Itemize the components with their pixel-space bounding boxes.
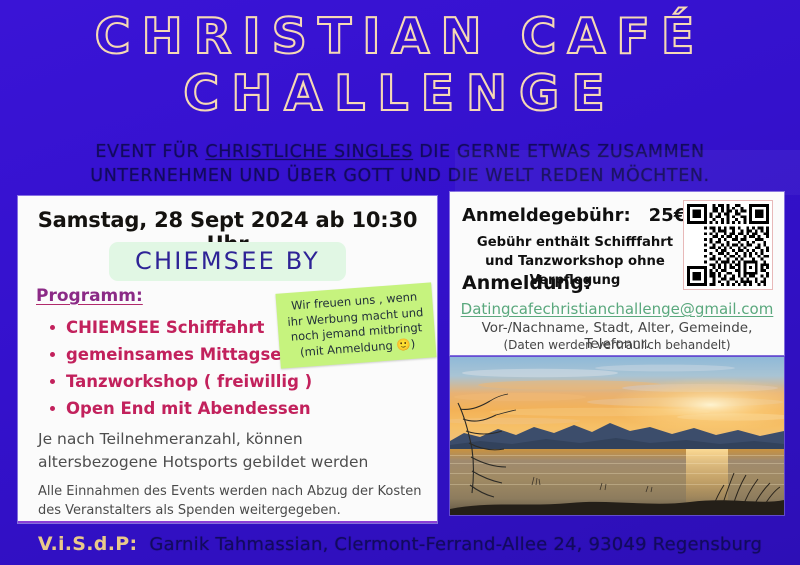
event-location-badge: CHIEMSEE BY (109, 242, 346, 281)
group-note-line-1: Je nach Teilnehmeranzahl, können (38, 428, 368, 451)
subtitle-line-1: EVENT FÜR CHRISTLICHE SINGLES DIE GERNE … (0, 140, 800, 164)
fee-amount: 25€ (649, 205, 687, 226)
visdp-label: V.i.S.d.P: (38, 533, 137, 555)
list-item: Tanzworkshop ( freiwillig ) (66, 368, 324, 395)
signup-heading: Anmeldung: (462, 272, 591, 294)
poster-title: CHRISTIAN CAFÉ CHALLENGE (0, 8, 800, 122)
fee-description-line-1: Gebühr enthält Schifffahrt (450, 233, 700, 252)
subtitle-part-2: DIE GERNE ETWAS ZUSAMMEN (413, 142, 705, 162)
subtitle-line-2: UNTERNEHMEN UND ÜBER GOTT UND DIE WELT R… (0, 164, 800, 188)
title-line-1: CHRISTIAN CAFÉ (0, 8, 800, 65)
event-location-wrapper: CHIEMSEE BY (18, 242, 437, 281)
fee-row: Anmeldegebühr:25€ (462, 205, 686, 226)
chiemsee-sunset-photo (450, 357, 784, 515)
poster-root: CHRISTIAN CAFÉ CHALLENGE EVENT FÜR CHRIS… (0, 0, 800, 565)
registration-card: Anmeldegebühr:25€ Gebühr enthält Schifff… (450, 192, 784, 355)
donation-fineprint: Alle Einnahmen des Events werden nach Ab… (38, 482, 421, 520)
subtitle-part-1: EVENT FÜR (95, 142, 205, 162)
poster-subtitle: EVENT FÜR CHRISTLICHE SINGLES DIE GERNE … (0, 140, 800, 188)
imprint-text: Garnik Tahmassian, Clermont-Ferrand-Alle… (149, 534, 762, 555)
signup-email-link[interactable]: Datingcafechristianchallenge@gmail.com (450, 300, 784, 318)
group-note: Je nach Teilnehmeranzahl, können altersb… (38, 428, 368, 474)
list-item: Open End mit Abendessen (66, 395, 324, 422)
footer-imprint: V.i.S.d.P:Garnik Tahmassian, Clermont-Fe… (0, 533, 800, 555)
group-note-line-2: altersbezogene Hotsports gebildet werden (38, 451, 368, 474)
fineprint-line-2: des Veranstalters als Spenden weitergege… (38, 501, 421, 520)
programm-heading: Programm: (36, 286, 143, 306)
fineprint-line-1: Alle Einnahmen des Events werden nach Ab… (38, 482, 421, 501)
privacy-note: (Daten werden vertraulich behandelt) (450, 338, 784, 352)
title-line-2: CHALLENGE (0, 65, 800, 122)
sticky-note: Wir freuen uns , wenn ihr Werbung macht … (275, 282, 436, 368)
subtitle-underlined: CHRISTLICHE SINGLES (205, 142, 413, 162)
qr-code-icon[interactable] (683, 200, 773, 290)
fee-label: Anmeldegebühr: (462, 205, 631, 226)
